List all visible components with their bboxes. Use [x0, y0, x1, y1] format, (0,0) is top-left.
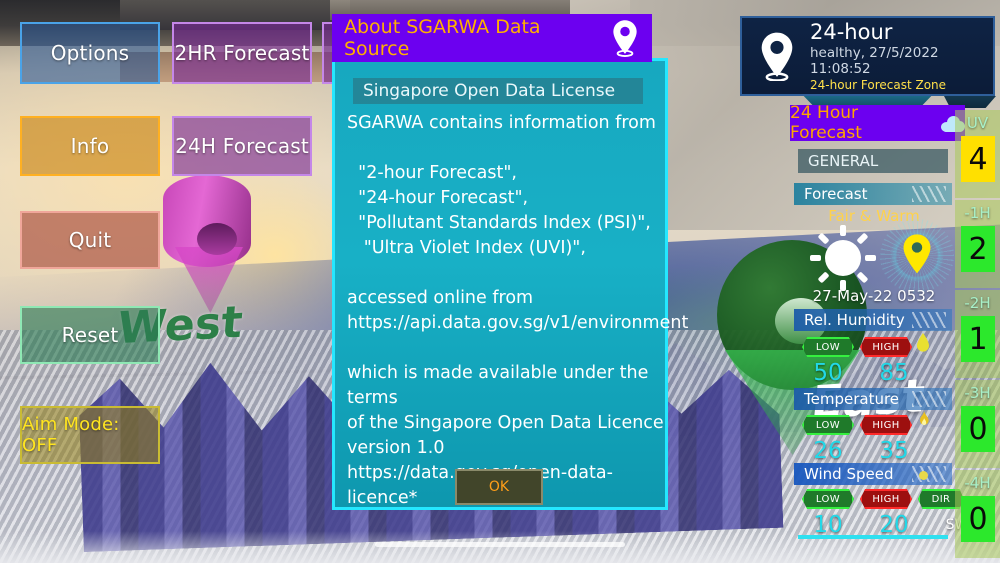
- 24h-forecast-button-label: 24H Forecast: [175, 134, 309, 158]
- temperature-high-pill: HIGH: [860, 415, 912, 435]
- forecast-section-label: Forecast: [804, 185, 867, 203]
- uv-cell-value-box: 0: [961, 406, 995, 452]
- wind-section-label: Wind Speed: [804, 465, 894, 483]
- uv-cell-label: -4H: [955, 474, 1000, 492]
- temperature-pill-row: LOW HIGH: [802, 415, 912, 435]
- reset-button-label: Reset: [62, 323, 119, 347]
- humidity-high-pill: HIGH: [860, 337, 912, 357]
- about-data-source-dialog: Singapore Open Data License SGARWA conta…: [332, 58, 668, 510]
- flame-icon: [916, 411, 932, 432]
- uv-cell-label: -2H: [955, 294, 1000, 312]
- quit-button[interactable]: Quit: [20, 211, 160, 269]
- uv-cell-value: 0: [968, 502, 987, 537]
- general-section-label: GENERAL: [798, 149, 948, 173]
- reset-button[interactable]: Reset: [20, 306, 160, 364]
- forecast-section-header: Forecast: [794, 183, 952, 205]
- humidity-pill-row: LOW HIGH: [802, 337, 912, 357]
- temperature-low-pill: LOW: [802, 415, 854, 435]
- aim-mode-toggle-label: Aim Mode: OFF: [22, 414, 158, 456]
- quit-button-label: Quit: [69, 228, 112, 252]
- decorative-slashes: [912, 466, 946, 482]
- humidity-high-value: 85: [868, 360, 920, 386]
- wind-high-pill: HIGH: [860, 489, 912, 509]
- wind-section-header: Wind Speed: [794, 463, 952, 485]
- uv-cell-minus-2h[interactable]: -2H 1: [955, 290, 1000, 378]
- forecast-panel-header: 24 Hour Forecast: [790, 105, 965, 141]
- wind-low-pill: LOW: [802, 489, 854, 509]
- uv-cell-value: 1: [968, 322, 987, 357]
- forecast-datetime: 27-May-22 0532: [788, 287, 960, 305]
- dialog-title-bar: About SGARWA Data Source: [332, 14, 652, 62]
- forecast-panel-title: 24 Hour Forecast: [790, 103, 934, 143]
- aim-mode-toggle[interactable]: Aim Mode: OFF: [20, 406, 160, 464]
- uv-cell-value-box: 0: [961, 496, 995, 542]
- uv-cell-minus-4h[interactable]: -4H 0: [955, 470, 1000, 558]
- humidity-value-row: 50 85: [802, 360, 920, 386]
- info-button[interactable]: Info: [20, 116, 160, 176]
- 2hr-forecast-button[interactable]: 2HR Forecast: [172, 22, 312, 84]
- uv-cell-value: 4: [968, 142, 987, 177]
- zone-location-pin-icon: [900, 233, 934, 277]
- marker-hole: [197, 223, 237, 255]
- uv-cell-label: -3H: [955, 384, 1000, 402]
- decorative-slashes: [912, 391, 946, 407]
- uv-cell-minus-3h[interactable]: -3H 0: [955, 380, 1000, 468]
- temperature-high-value: 35: [868, 438, 920, 464]
- humidity-section-header: Rel. Humidity: [794, 309, 952, 331]
- dialog-ok-button[interactable]: OK: [455, 469, 543, 505]
- water-drop-icon: [916, 333, 930, 353]
- wind-pill-row: LOW HIGH DIR: [802, 489, 964, 509]
- uv-index-column: UV 4 -1H 2 -2H 1 -3H 0: [955, 110, 1000, 560]
- home-indicator[interactable]: [375, 542, 625, 547]
- dialog-subtitle: Singapore Open Data License: [353, 78, 643, 104]
- uv-cell-value-box: 1: [961, 316, 995, 362]
- dialog-body-text: SGARWA contains information from "2-hour…: [347, 111, 665, 511]
- temperature-section-label: Temperature: [804, 390, 899, 408]
- options-button-label: Options: [51, 41, 130, 65]
- uv-cell-value: 0: [968, 412, 987, 447]
- dialog-ok-button-label: OK: [489, 479, 509, 495]
- dialog-title: About SGARWA Data Source: [344, 16, 602, 60]
- dot-icon: [919, 471, 928, 480]
- app-screen: West East Options 2HR Forecast P Info 24…: [0, 0, 1000, 563]
- location-pin-icon: [610, 19, 640, 57]
- location-pin-icon: [750, 27, 804, 85]
- uv-cell-label: UV: [955, 114, 1000, 132]
- options-button[interactable]: Options: [20, 22, 160, 84]
- uv-cell-value-box: 4: [961, 136, 995, 182]
- humidity-low-pill: LOW: [802, 337, 854, 357]
- ar-zone-marker-west[interactable]: [145, 175, 265, 310]
- humidity-low-value: 50: [802, 360, 854, 386]
- uv-cell-current[interactable]: UV 4: [955, 110, 1000, 198]
- panel-underline: [798, 535, 948, 539]
- status-subtitle: healthy, 27/5/2022 11:08:52: [810, 45, 993, 77]
- 2hr-forecast-button-label: 2HR Forecast: [174, 41, 309, 65]
- temperature-section-header: Temperature: [794, 388, 952, 410]
- 24h-forecast-button[interactable]: 24H Forecast: [172, 116, 312, 176]
- uv-cell-label: -1H: [955, 204, 1000, 222]
- decorative-slashes: [912, 186, 946, 202]
- forecast-panel-body: GENERAL Forecast Fair & Warm 27-May-22 0…: [788, 141, 960, 551]
- status-zone-label: 24-hour Forecast Zone: [810, 78, 993, 92]
- uv-cell-value: 2: [968, 232, 987, 267]
- uv-cell-value-box: 2: [961, 226, 995, 272]
- sun-icon: [810, 225, 876, 291]
- status-text-group: 24-hour healthy, 27/5/2022 11:08:52 24-h…: [810, 20, 993, 92]
- temperature-low-value: 26: [802, 438, 854, 464]
- temperature-value-row: 26 35: [802, 438, 920, 464]
- humidity-section-label: Rel. Humidity: [804, 311, 905, 329]
- info-button-label: Info: [71, 134, 110, 158]
- decorative-slashes: [912, 312, 946, 328]
- zone-status-panel: 24-hour healthy, 27/5/2022 11:08:52 24-h…: [740, 16, 995, 96]
- uv-cell-minus-1h[interactable]: -1H 2: [955, 200, 1000, 288]
- status-title: 24-hour: [810, 20, 993, 44]
